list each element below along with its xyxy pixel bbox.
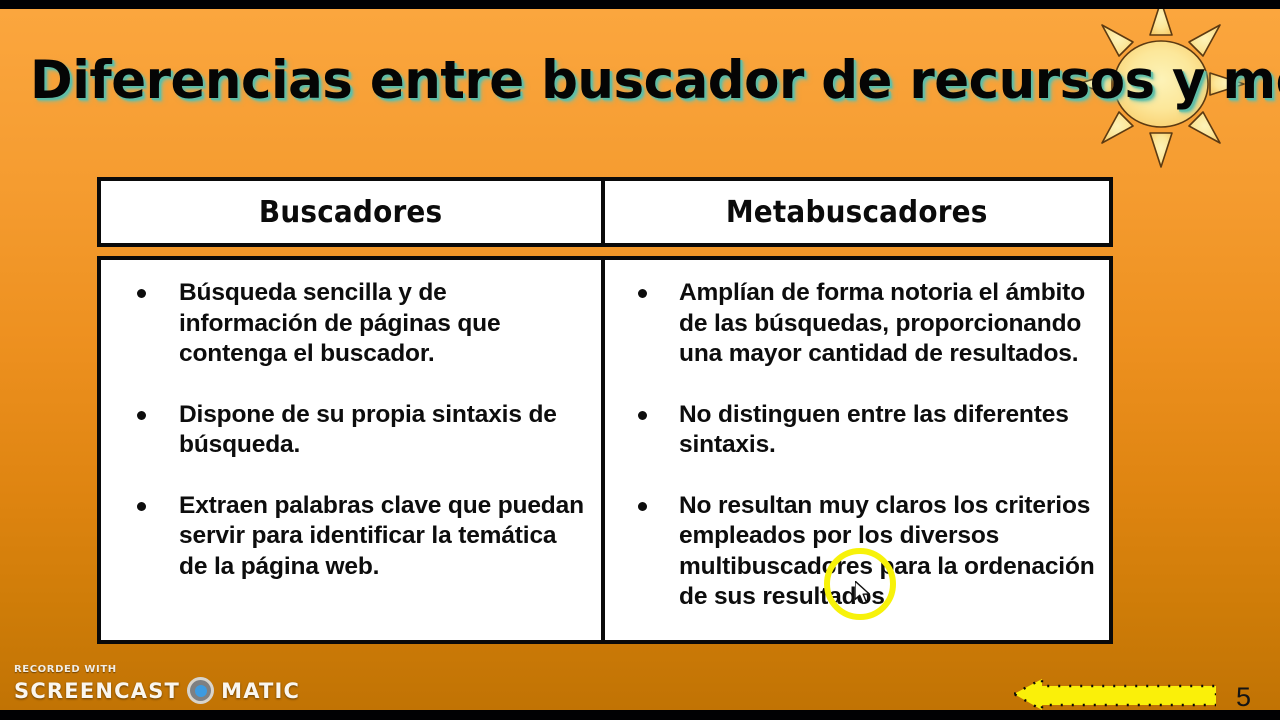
table-body-row: Búsqueda sencilla y de información de pá… xyxy=(97,256,1113,644)
watermark-word-matic: MATIC xyxy=(221,679,300,703)
screencast-watermark: RECORDED WITH SCREENCAST MATIC xyxy=(14,664,300,704)
column-header-label: Buscadores xyxy=(259,195,442,230)
list-item: Búsqueda sencilla y de información de pá… xyxy=(101,278,591,370)
watermark-word-screencast: SCREENCAST xyxy=(14,679,180,703)
table-header-cell-metabuscadores: Metabuscadores xyxy=(605,181,1109,243)
left-arrow-callout xyxy=(1014,677,1216,710)
table-cell-buscadores: Búsqueda sencilla y de información de pá… xyxy=(101,260,605,640)
comparison-table: Buscadores Metabuscadores Búsqueda senci… xyxy=(97,177,1113,644)
watermark-recorded-with-label: RECORDED WITH xyxy=(14,664,300,675)
table-header-row: Buscadores Metabuscadores xyxy=(97,177,1113,247)
page-number: 5 xyxy=(1236,682,1251,710)
slide-screenshot: Diferencias entre buscador de recursos y… xyxy=(0,0,1280,720)
mouse-pointer-icon xyxy=(855,581,875,607)
record-dot-icon xyxy=(187,677,214,704)
table-header-cell-buscadores: Buscadores xyxy=(101,181,605,243)
watermark-brand: SCREENCAST MATIC xyxy=(14,677,300,704)
slide-canvas: Diferencias entre buscador de recursos y… xyxy=(0,9,1280,710)
page-title: Diferencias entre buscador de recursos y… xyxy=(30,51,1213,111)
list-item: Dispone de su propia sintaxis de búsqued… xyxy=(101,400,591,461)
letterbox-top xyxy=(0,0,1280,9)
letterbox-bottom xyxy=(0,710,1280,720)
list-item: No distinguen entre las diferentes sinta… xyxy=(605,400,1099,461)
bullet-list-buscadores: Búsqueda sencilla y de información de pá… xyxy=(101,260,601,582)
column-header-label: Metabuscadores xyxy=(726,195,988,230)
list-item: Amplían de forma notoria el ámbito de la… xyxy=(605,278,1099,370)
list-item: Extraen palabras clave que puedan servir… xyxy=(101,491,591,583)
